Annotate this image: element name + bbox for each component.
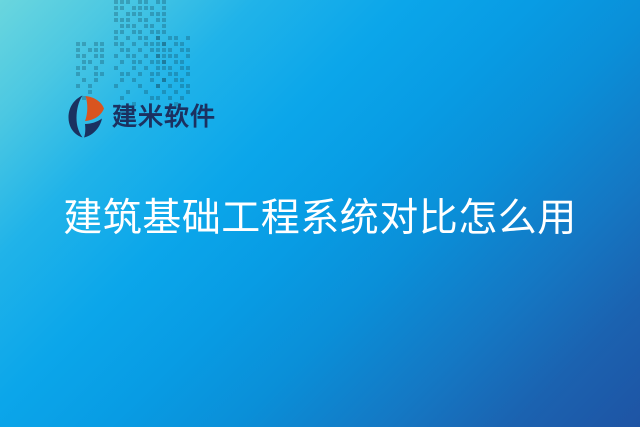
skyline-pixel	[156, 12, 160, 16]
skyline-pixel	[186, 66, 190, 70]
skyline-pixel	[138, 30, 142, 34]
skyline-pixel	[132, 66, 136, 70]
skyline-pixel	[132, 60, 136, 64]
skyline-pixel	[180, 78, 184, 82]
skyline-pixel	[150, 78, 154, 82]
logo-wordmark: 建米软件	[112, 104, 216, 129]
skyline-pixel	[120, 0, 124, 4]
skyline-pixel	[114, 54, 118, 58]
skyline-pixel	[186, 84, 190, 88]
skyline-pixel	[162, 12, 166, 16]
skyline-pixel	[162, 60, 166, 64]
skyline-pixel	[120, 6, 124, 10]
skyline-pixel	[138, 12, 142, 16]
skyline-pixel	[150, 12, 154, 16]
skyline-pixel	[174, 54, 178, 58]
skyline-pixel	[100, 72, 104, 76]
skyline-pixel	[114, 36, 118, 40]
skyline-pixel	[144, 42, 148, 46]
skyline-pixel	[126, 18, 130, 22]
skyline-pixel	[94, 42, 98, 46]
skyline-pixel	[168, 66, 172, 70]
skyline-pixel	[156, 0, 160, 4]
skyline-pixel	[132, 30, 136, 34]
skyline-pixel	[114, 0, 118, 4]
skyline-pixel	[186, 54, 190, 58]
skyline-pixel	[168, 84, 172, 88]
skyline-pixel	[174, 60, 178, 64]
skyline-pixel	[126, 48, 130, 52]
skyline-pixel	[156, 18, 160, 22]
skyline-pixel	[162, 42, 166, 46]
skyline-pixel	[168, 72, 172, 76]
skyline-pixel	[162, 60, 166, 64]
skyline-pixel	[114, 18, 118, 22]
skyline-pixel	[76, 42, 80, 46]
skyline-pixel	[76, 66, 80, 70]
brand-logo: 建米软件	[68, 93, 216, 139]
skyline-pixel	[156, 84, 160, 88]
skyline-pixel	[76, 72, 80, 76]
skyline-pixel	[126, 36, 130, 40]
skyline-pixel	[76, 48, 80, 52]
skyline-pixel	[132, 12, 136, 16]
skyline-pixel	[162, 6, 166, 10]
skyline-pixel	[126, 54, 130, 58]
skyline-pixel	[162, 78, 166, 82]
skyline-pixel	[94, 78, 98, 82]
skyline-pixel	[120, 18, 124, 22]
pixel-skyline-icon	[70, 6, 200, 106]
skyline-pixel	[126, 0, 130, 4]
skyline-pixel	[168, 48, 172, 52]
skyline-pixel	[82, 78, 86, 82]
skyline-pixel	[150, 60, 154, 64]
skyline-pixel	[174, 78, 178, 82]
skyline-pixel	[126, 24, 130, 28]
skyline-pixel	[150, 24, 154, 28]
skyline-pixel	[156, 84, 160, 88]
skyline-pixel	[144, 0, 148, 4]
skyline-pixel	[156, 36, 160, 40]
skyline-pixel	[156, 30, 160, 34]
skyline-pixel	[114, 30, 118, 34]
skyline-pixel	[162, 48, 166, 52]
skyline-pixel	[138, 0, 142, 4]
skyline-pixel	[144, 24, 148, 28]
skyline-pixel	[94, 48, 98, 52]
skyline-pixel	[180, 66, 184, 70]
skyline-pixel	[174, 36, 178, 40]
skyline-tower-center	[114, 12, 172, 106]
skyline-pixel	[82, 66, 86, 70]
skyline-pixel	[132, 42, 136, 46]
skyline-pixel	[162, 42, 166, 46]
skyline-pixel	[138, 48, 142, 52]
skyline-pixel	[120, 60, 124, 64]
skyline-pixel	[138, 84, 142, 88]
skyline-pixel	[168, 36, 172, 40]
skyline-pixel	[150, 6, 154, 10]
skyline-pixel	[114, 84, 118, 88]
skyline-pixel	[82, 54, 86, 58]
skyline-pixel	[82, 42, 86, 46]
skyline-pixel	[144, 18, 148, 22]
skyline-pixel	[120, 72, 124, 76]
skyline-pixel	[114, 12, 118, 16]
skyline-pixel	[156, 42, 160, 46]
skyline-pixel	[132, 78, 136, 82]
skyline-pixel	[138, 6, 142, 10]
skyline-pixel	[156, 48, 160, 52]
skyline-pixel	[126, 12, 130, 16]
skyline-pixel	[100, 42, 104, 46]
skyline-pixel	[180, 60, 184, 64]
skyline-pixel	[156, 54, 160, 58]
skyline-pixel	[186, 36, 190, 40]
skyline-pixel	[120, 42, 124, 46]
skyline-pixel	[88, 48, 92, 52]
skyline-pixel	[162, 18, 166, 22]
skyline-pixel	[114, 66, 118, 70]
skyline-pixel	[186, 72, 190, 76]
skyline-pixel	[76, 54, 80, 58]
skyline-pixel	[162, 66, 166, 70]
skyline-pixel	[144, 66, 148, 70]
skyline-pixel	[88, 84, 92, 88]
banner-canvas: 建米软件 建筑基础工程系统对比怎么用	[0, 0, 640, 427]
skyline-pixel	[150, 48, 154, 52]
skyline-pixel	[94, 66, 98, 70]
skyline-pixel	[156, 36, 160, 40]
jianmi-crescent-logo-icon	[68, 94, 106, 138]
skyline-pixel	[138, 60, 142, 64]
skyline-pixel	[94, 72, 98, 76]
skyline-pixel	[162, 0, 166, 4]
skyline-pixel	[174, 72, 178, 76]
skyline-pixel	[156, 66, 160, 70]
skyline-pixel	[132, 24, 136, 28]
skyline-pixel	[144, 6, 148, 10]
skyline-pixel	[180, 48, 184, 52]
skyline-pixel	[120, 30, 124, 34]
skyline-pixel	[186, 48, 190, 52]
skyline-pixel	[100, 48, 104, 52]
skyline-pixel	[150, 72, 154, 76]
skyline-pixel	[76, 84, 80, 88]
skyline-pixel	[180, 42, 184, 46]
skyline-pixel	[162, 24, 166, 28]
skyline-pixel	[156, 72, 160, 76]
skyline-pixel	[138, 36, 142, 40]
skyline-pixel	[100, 60, 104, 64]
skyline-pixel	[162, 54, 166, 58]
skyline-pixel	[144, 54, 148, 58]
skyline-pixel	[162, 30, 166, 34]
skyline-pixel	[120, 48, 124, 52]
skyline-pixel	[120, 24, 124, 28]
skyline-pixel	[82, 60, 86, 64]
skyline-pixel	[156, 54, 160, 58]
skyline-pixel	[94, 54, 98, 58]
skyline-pixel	[126, 72, 130, 76]
skyline-pixel	[174, 42, 178, 46]
skyline-pixel	[132, 54, 136, 58]
skyline-pixel	[114, 6, 118, 10]
skyline-pixel	[132, 6, 136, 10]
skyline-pixel	[144, 36, 148, 40]
skyline-pixel	[88, 60, 92, 64]
skyline-pixel	[168, 54, 172, 58]
skyline-pixel	[180, 84, 184, 88]
skyline-pixel	[150, 42, 154, 46]
skyline-pixel	[120, 78, 124, 82]
skyline-pixel	[162, 78, 166, 82]
skyline-pixel	[156, 60, 160, 64]
skyline-pixel	[138, 72, 142, 76]
skyline-pixel	[150, 30, 154, 34]
skyline-pixel	[138, 18, 142, 22]
skyline-pixel	[100, 54, 104, 58]
skyline-pixel	[114, 42, 118, 46]
page-title: 建筑基础工程系统对比怎么用	[0, 196, 640, 242]
